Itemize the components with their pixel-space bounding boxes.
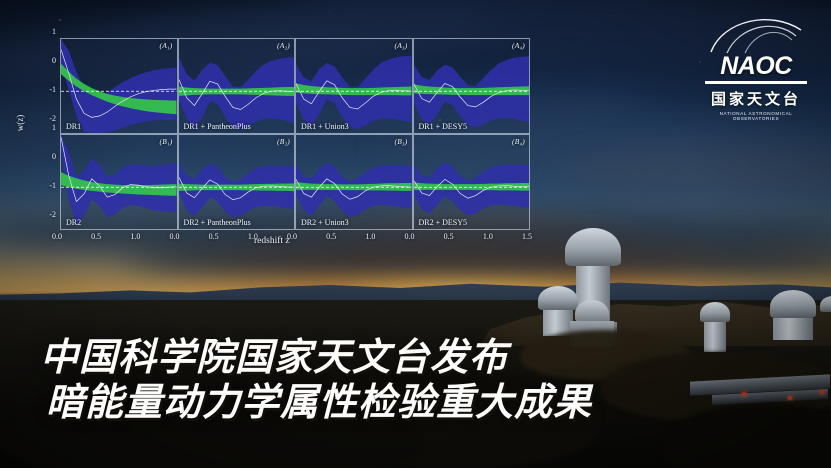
panel-dataset-label: DR2 + PantheonPlus <box>184 218 251 227</box>
panel-tag: (B₁) <box>160 137 173 146</box>
observatory-dome <box>770 290 816 340</box>
x-tick-label: 0.5 <box>326 232 336 241</box>
x-tick-label: 1.0 <box>130 232 140 241</box>
observatory-dome <box>700 302 730 352</box>
panel-tag: (B₃) <box>395 137 408 146</box>
panel-dataset-label: DR2 + Union3 <box>301 218 349 227</box>
headline-block: 中国科学院国家天文台发布 暗能量动力学属性检验重大成果 <box>40 336 592 426</box>
y-tick-label: -1 <box>49 85 56 94</box>
panel-tag: (A₄) <box>512 41 525 50</box>
observatory-dome <box>820 296 831 312</box>
y-tick-label: 1 <box>52 27 56 36</box>
logo-rule <box>705 81 807 84</box>
plot-panel-a2: (A₂)DR1 + PantheonPlus <box>178 38 296 134</box>
logo-chinese-name: 国家天文台 <box>697 88 815 109</box>
dark-energy-figure: 1 0 -1 -2 1 0 -1 -2 w(z) (A₁)DR1(A₂)DR1 … <box>22 22 534 250</box>
logo-arc-icon <box>697 14 815 54</box>
panel-dataset-label: DR1 + Union3 <box>301 122 349 131</box>
y-tick-label: 0 <box>52 56 56 65</box>
x-tick-label: 0.5 <box>91 232 101 241</box>
headline-line-1: 中国科学院国家天文台发布 <box>40 336 592 381</box>
panel-dataset-label: DR2 + DESY5 <box>419 218 468 227</box>
naoc-logo: NAOC 国家天文台 NATIONAL ASTRONOMICAL OBSERVA… <box>697 14 815 118</box>
y-tick-label: 1 <box>52 123 56 132</box>
plot-panel-a1: (A₁)DR1 <box>60 38 178 134</box>
y-tick-label: -2 <box>49 114 56 123</box>
y-axis-label: w(z) <box>15 115 25 132</box>
plot-panel-a4: (A₄)DR1 + DESY5 <box>413 38 531 134</box>
headline-line-2: 暗能量动力学属性检验重大成果 <box>40 381 592 426</box>
panel-tag: (A₁) <box>160 41 173 50</box>
panel-tag: (A₂) <box>277 41 290 50</box>
plot-panel-a3: (A₃)DR1 + Union3 <box>295 38 413 134</box>
y-tick-label: 0 <box>52 152 56 161</box>
panel-dataset-label: DR2 <box>66 218 81 227</box>
x-tick-label: 0.5 <box>209 232 219 241</box>
panel-tag: (B₂) <box>277 137 290 146</box>
x-tick-label: 0.0 <box>170 232 180 241</box>
poster-stage: 1 0 -1 -2 1 0 -1 -2 w(z) (A₁)DR1(A₂)DR1 … <box>0 0 831 468</box>
x-tick-label: 0.5 <box>444 232 454 241</box>
red-marker-light <box>742 392 746 396</box>
y-tick-label: -2 <box>49 210 56 219</box>
plot-panel-b1: (B₁)DR2 <box>60 134 178 230</box>
panel-dataset-label: DR1 + PantheonPlus <box>184 122 251 131</box>
panel-tag: (A₃) <box>395 41 408 50</box>
panel-grid: (A₁)DR1(A₂)DR1 + PantheonPlus(A₃)DR1 + U… <box>60 38 530 230</box>
x-tick-label: 1.5 <box>522 232 532 241</box>
x-tick-label: 0.0 <box>405 232 415 241</box>
x-axis-label: redshift z <box>254 236 290 246</box>
red-marker-light <box>788 396 792 400</box>
logo-acronym: NAOC <box>697 54 815 79</box>
x-tick-label: 1.0 <box>483 232 493 241</box>
x-tick-label: 1.0 <box>365 232 375 241</box>
panel-dataset-label: DR1 <box>66 122 81 131</box>
x-tick-label: 0.0 <box>52 232 62 241</box>
y-tick-label: -1 <box>49 181 56 190</box>
plot-panel-b3: (B₃)DR2 + Union3 <box>295 134 413 230</box>
plot-panel-b4: (B₄)DR2 + DESY5 <box>413 134 531 230</box>
red-marker-light <box>820 390 824 394</box>
logo-english-name: NATIONAL ASTRONOMICAL OBSERVATORIES <box>697 111 815 121</box>
panel-tag: (B₄) <box>512 137 525 146</box>
panel-dataset-label: DR1 + DESY5 <box>419 122 468 131</box>
plot-panel-b2: (B₂)DR2 + PantheonPlus <box>178 134 296 230</box>
